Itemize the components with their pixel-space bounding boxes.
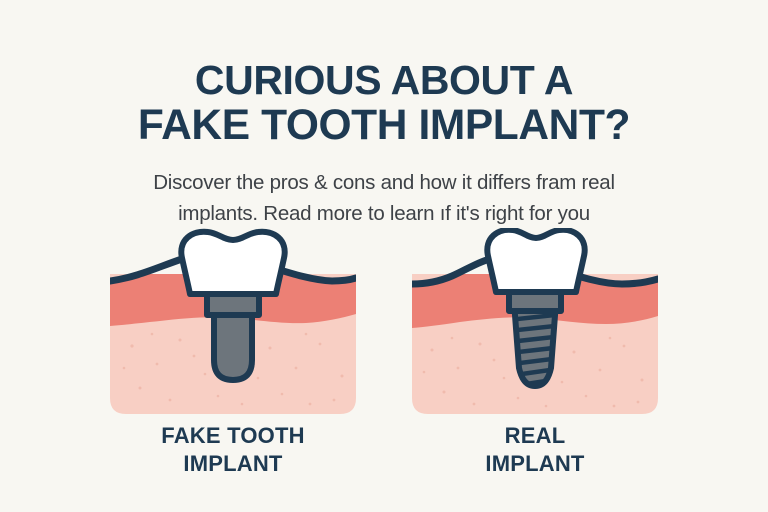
headline-line-1: CURIOUS ABOUT A	[0, 57, 768, 103]
subtitle-line-2: implants. Read more to learn ıf it's rig…	[0, 198, 768, 229]
headline-line-2: FAKE TOOTH IMPLANT?	[0, 103, 768, 149]
page-subtitle: Discover the pros & cons and how it diff…	[0, 167, 768, 229]
subtitle-line-1: Discover the pros & cons and how it diff…	[0, 167, 768, 198]
caption-line-2: IMPLANT	[110, 450, 356, 478]
caption-line-1: REAL	[412, 422, 658, 450]
figure-real-implant-caption: REAL IMPLANT	[412, 422, 658, 478]
fake-tooth-implant-illustration	[110, 228, 356, 416]
real-implant-illustration	[412, 228, 658, 416]
page-title: CURIOUS ABOUT A FAKE TOOTH IMPLANT?	[0, 57, 768, 149]
figure-fake-tooth-implant-caption: FAKE TOOTH IMPLANT	[110, 422, 356, 478]
comparison-illustrations: FAKE TOOTH IMPLANT	[0, 228, 768, 488]
figure-real-implant: REAL IMPLANT	[412, 228, 658, 488]
caption-line-2: IMPLANT	[412, 450, 658, 478]
caption-line-1: FAKE TOOTH	[110, 422, 356, 450]
poster-canvas: CURIOUS ABOUT A FAKE TOOTH IMPLANT? Disc…	[0, 0, 768, 512]
figure-fake-tooth-implant: FAKE TOOTH IMPLANT	[110, 228, 356, 488]
